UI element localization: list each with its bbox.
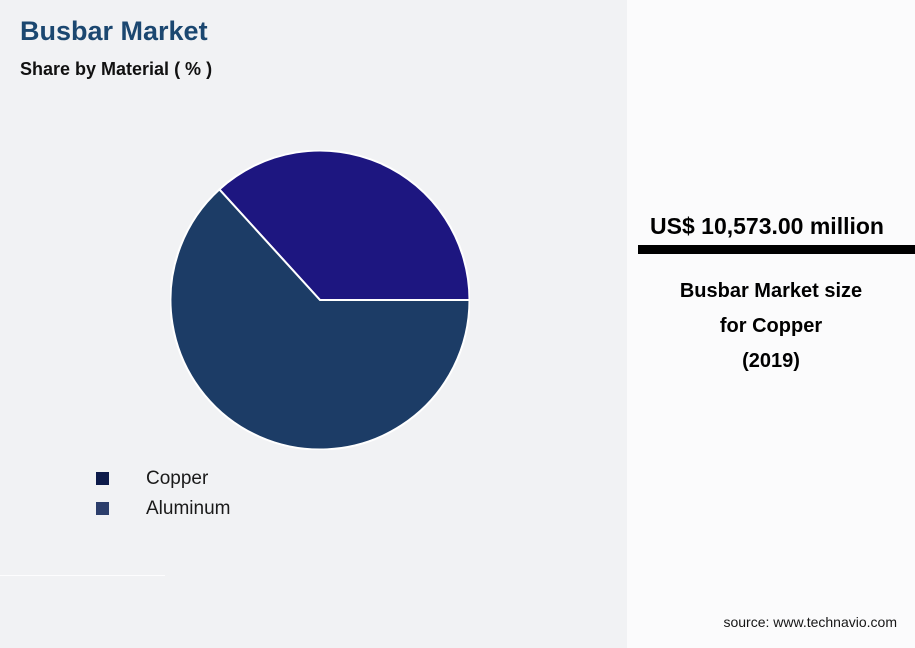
legend-label-aluminum: Aluminum bbox=[146, 499, 230, 518]
callout-panel: US$ 10,573.00 million Busbar Market size… bbox=[627, 0, 915, 648]
pie-chart bbox=[170, 150, 470, 450]
callout-caption: Busbar Market size for Copper (2019) bbox=[635, 274, 907, 379]
chart-subtitle: Share by Material ( % ) bbox=[20, 59, 212, 80]
callout-value: US$ 10,573.00 million bbox=[627, 213, 907, 240]
legend-label-copper: Copper bbox=[146, 469, 208, 488]
chart-panel: Busbar Market Share by Material ( % ) Co… bbox=[0, 0, 627, 648]
callout-caption-line-2: for Copper bbox=[635, 309, 907, 344]
chart-legend: Copper Aluminum bbox=[96, 463, 516, 523]
page-title: Busbar Market bbox=[20, 16, 208, 47]
legend-item-copper[interactable]: Copper bbox=[96, 463, 516, 493]
callout-divider-bar bbox=[638, 245, 915, 254]
source-note: source: www.technavio.com bbox=[723, 614, 897, 630]
legend-swatch-copper bbox=[96, 472, 109, 485]
callout-caption-line-1: Busbar Market size bbox=[635, 274, 907, 309]
legend-item-aluminum[interactable]: Aluminum bbox=[96, 493, 516, 523]
chart-canvas: Busbar Market Share by Material ( % ) Co… bbox=[0, 0, 915, 648]
pie-chart-svg bbox=[170, 150, 470, 450]
legend-swatch-aluminum bbox=[96, 502, 109, 515]
divider-rule bbox=[0, 575, 165, 576]
callout-caption-line-3: (2019) bbox=[635, 344, 907, 379]
